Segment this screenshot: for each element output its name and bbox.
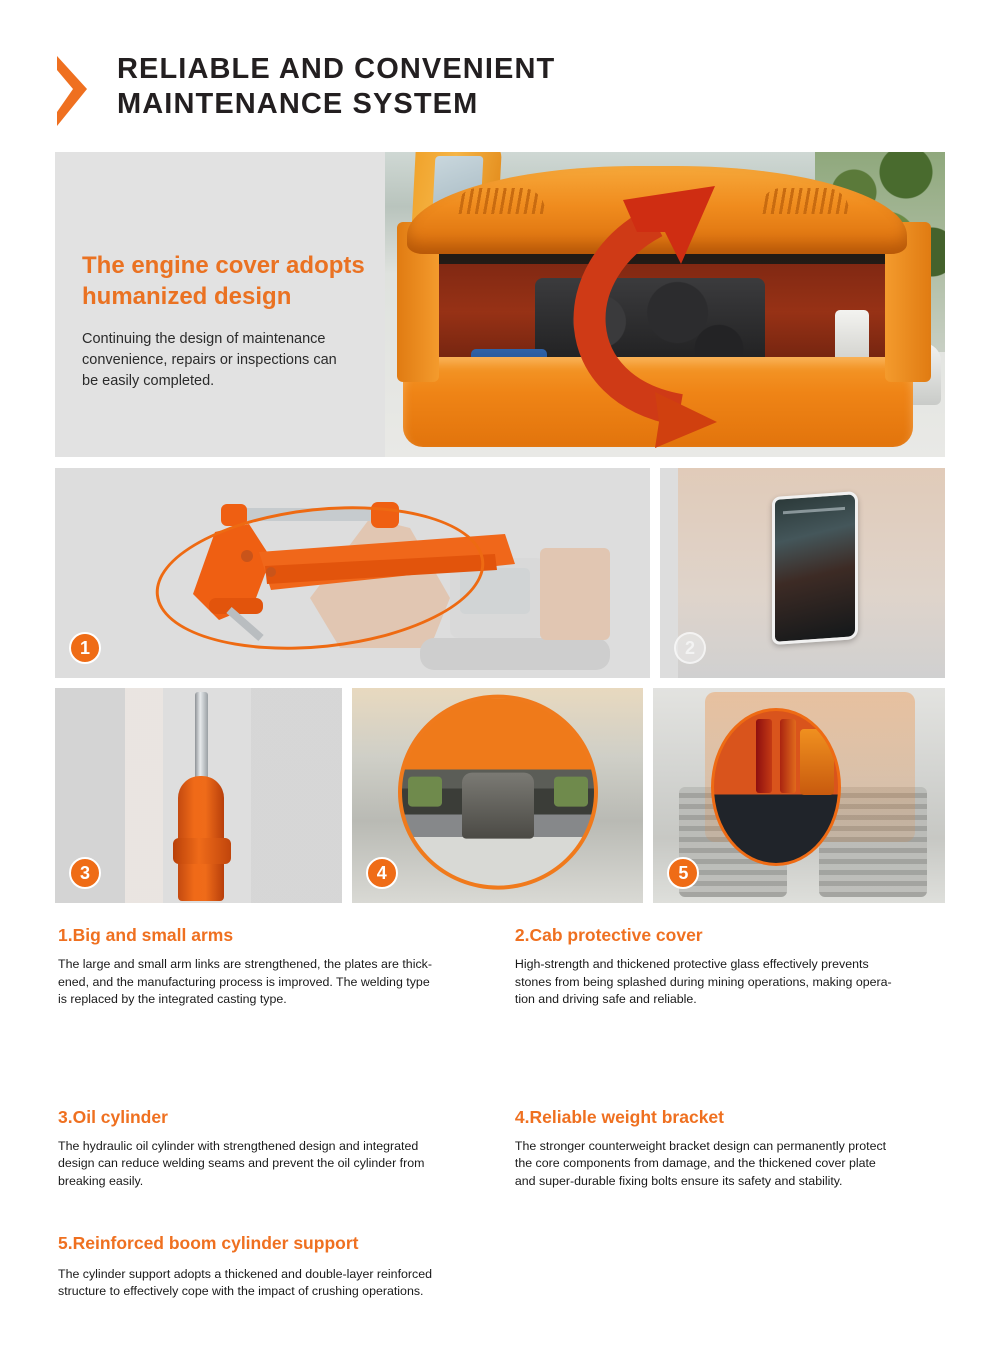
tile-badge-2: 2 <box>674 632 706 664</box>
tile-big-and-small-arms[interactable]: 1 <box>55 468 650 678</box>
cylinder-mount-lug <box>173 838 231 864</box>
tile-boom-cylinder-support[interactable]: 5 <box>653 688 945 903</box>
hero-panel: The engine cover adopts humanized design… <box>55 152 945 457</box>
spec-item-1: 1.Big and small arms The large and small… <box>58 925 512 1009</box>
spec-body-5: The cylinder support adopts a thickened … <box>58 1266 494 1301</box>
tile-oil-cylinder[interactable]: 3 <box>55 688 342 903</box>
tile-cab-protective-cover[interactable]: 2 <box>660 468 945 678</box>
page-header: RELIABLE AND CONVENIENT MAINTENANCE SYST… <box>55 52 555 128</box>
tile-badge-3: 3 <box>69 857 101 889</box>
spec-title-1: 1.Big and small arms <box>58 925 494 946</box>
spec-body-4: The stronger counterweight bracket desig… <box>515 1138 935 1191</box>
tile-badge-1: 1 <box>69 632 101 664</box>
highlight-oval-undercarriage <box>398 694 598 889</box>
spec-sections: 1.Big and small arms The large and small… <box>58 925 953 1301</box>
spec-item-5: 5.Reinforced boom cylinder support The c… <box>58 1233 512 1301</box>
spec-item-5-filler <box>512 1233 953 1301</box>
spec-row-3: 5.Reinforced boom cylinder support The c… <box>58 1233 953 1301</box>
chevron-right-icon <box>55 54 91 128</box>
tile-row-bottom: 3 4 5 <box>55 688 945 903</box>
feature-image-grid: 1 2 3 4 <box>55 468 945 903</box>
foliage-left <box>408 777 442 807</box>
spec-title-5: 5.Reinforced boom cylinder support <box>58 1233 494 1254</box>
spec-row-1: 1.Big and small arms The large and small… <box>58 925 953 1009</box>
spec-item-3: 3.Oil cylinder The hydraulic oil cylinde… <box>58 1107 512 1191</box>
spec-item-2: 2.Cab protective cover High-strength and… <box>512 925 953 1009</box>
foliage-right <box>554 777 588 807</box>
spec-item-4: 4.Reliable weight bracket The stronger c… <box>512 1107 953 1191</box>
highlight-oval-cylinder-support <box>711 708 841 866</box>
cab-edge <box>800 729 834 795</box>
spec-row-2: 3.Oil cylinder The hydraulic oil cylinde… <box>58 1107 953 1191</box>
curved-rotation-arrow-icon <box>505 160 835 450</box>
hero-heading: The engine cover adopts humanized design <box>82 250 422 312</box>
tile-badge-4: 4 <box>366 857 398 889</box>
hero-photo-engine-cover <box>385 152 945 457</box>
spec-title-3: 3.Oil cylinder <box>58 1107 494 1128</box>
spec-body-1: The large and small arm links are streng… <box>58 956 494 1009</box>
spec-body-3: The hydraulic oil cylinder with strength… <box>58 1138 494 1191</box>
spec-title-2: 2.Cab protective cover <box>515 925 935 946</box>
support-cylinder-a <box>756 719 772 793</box>
spec-body-2: High-strength and thickened protective g… <box>515 956 935 1009</box>
protective-glass-window <box>772 491 858 645</box>
tile-reliable-weight-bracket[interactable]: 4 <box>352 688 644 903</box>
page-title: RELIABLE AND CONVENIENT MAINTENANCE SYST… <box>117 52 555 123</box>
hero-body-text: Continuing the design of maintenance con… <box>82 329 422 391</box>
swing-bearing-hub <box>462 773 534 839</box>
support-cylinder-b <box>780 719 796 793</box>
spec-title-4: 4.Reliable weight bracket <box>515 1107 935 1128</box>
tile-row-top: 1 2 <box>55 468 945 678</box>
hero-text-block: The engine cover adopts humanized design… <box>82 250 422 391</box>
